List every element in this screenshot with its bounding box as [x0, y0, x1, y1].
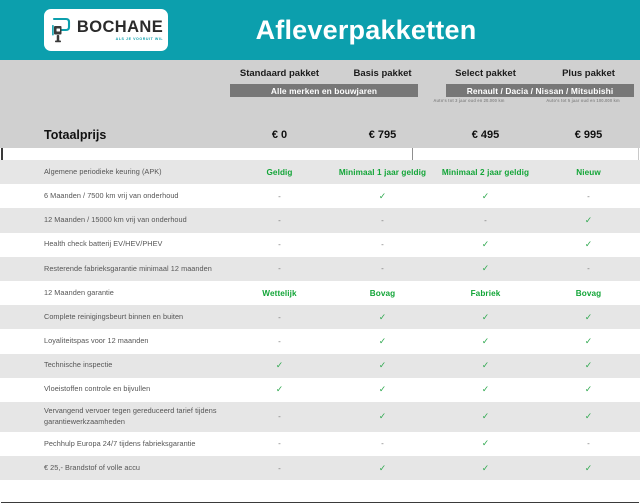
package-subtitle-plus: Auto's tot 5 jaar oud en 100.000 km: [526, 98, 640, 107]
price-standaard: € 0: [228, 122, 331, 148]
value-dash: -: [484, 216, 487, 225]
afleverpakketten-sheet: BOCHANE ALS JE VOORUIT WIL Afleverpakket…: [0, 0, 640, 453]
feature-value-cell: ✓: [434, 378, 537, 402]
total-price-label: Totaalprijs: [0, 122, 228, 148]
group-band-all-brands: Alle merken en bouwjaren: [230, 84, 418, 97]
feature-value-cell: -: [228, 208, 331, 232]
package-subtitles-row: Auto's tot 3 jaar oud en 20.000 km Auto'…: [0, 98, 640, 107]
header-body-gap: [0, 148, 640, 160]
feature-value-cell: ✓: [434, 257, 537, 281]
value-dash: -: [278, 439, 281, 448]
value-tick: ✓: [482, 263, 490, 274]
feature-value-cell: -: [228, 305, 331, 329]
feature-label: € 25,- Brandstof of volle accu: [0, 456, 228, 480]
page-title: Afleverpakketten: [0, 0, 640, 60]
package-name-basis: Basis pakket: [331, 68, 434, 82]
value-dash: -: [381, 240, 384, 249]
feature-value-cell: ✓: [537, 233, 640, 257]
value-word: Nieuw: [576, 168, 601, 177]
value-tick: ✓: [276, 384, 284, 395]
feature-value-cell: -: [331, 208, 434, 232]
table-row: Complete reinigingsbeurt binnen en buite…: [0, 305, 640, 329]
feature-label: 6 Maanden / 7500 km vrij van onderhoud: [0, 184, 228, 208]
band-spacer: [0, 84, 228, 97]
value-dash: -: [587, 192, 590, 201]
feature-value-cell: ✓: [331, 184, 434, 208]
feature-value-cell: ✓: [434, 329, 537, 353]
value-tick: ✓: [585, 463, 593, 474]
value-tick: ✓: [379, 360, 387, 371]
value-tick: ✓: [482, 384, 490, 395]
value-dash: -: [381, 216, 384, 225]
feature-value-cell: ✓: [434, 305, 537, 329]
package-subtitle-select: Auto's tot 3 jaar oud en 20.000 km: [412, 98, 526, 107]
value-tick: ✓: [482, 411, 490, 422]
value-dash: -: [278, 264, 281, 273]
value-dash: -: [278, 216, 281, 225]
value-tick: ✓: [379, 191, 387, 202]
value-dash: -: [278, 192, 281, 201]
price-select: € 495: [434, 122, 537, 148]
feature-value-cell: -: [228, 257, 331, 281]
table-row: Technische inspectie✓✓✓✓: [0, 354, 640, 378]
value-tick: ✓: [482, 191, 490, 202]
group-bands-row: Alle merken en bouwjaren Renault / Dacia…: [0, 84, 640, 97]
feature-value-cell: Bovag: [331, 281, 434, 305]
feature-value-cell: Nieuw: [537, 160, 640, 184]
feature-value-cell: ✓: [434, 432, 537, 456]
feature-value-cell: -: [331, 233, 434, 257]
value-dash: -: [278, 240, 281, 249]
feature-value-cell: ✓: [537, 402, 640, 432]
value-dash: -: [587, 264, 590, 273]
feature-rows-container: Algemene periodieke keuring (APK)GeldigM…: [0, 160, 640, 480]
value-tick: ✓: [482, 336, 490, 347]
feature-value-cell: -: [228, 184, 331, 208]
feature-value-cell: ✓: [537, 456, 640, 480]
value-word: Fabriek: [471, 289, 501, 298]
feature-value-cell: -: [228, 456, 331, 480]
table-row: Health check batterij EV/HEV/PHEV--✓✓: [0, 233, 640, 257]
table-footer-row: [0, 480, 640, 503]
feature-value-cell: Wettelijk: [228, 281, 331, 305]
feature-label: 12 Maanden garantie: [0, 281, 228, 305]
feature-label: Pechhulp Europa 24/7 tijdens fabrieksgar…: [0, 432, 228, 456]
table-row: Vervangend vervoer tegen gereduceerd tar…: [0, 402, 640, 432]
feature-value-cell: -: [331, 257, 434, 281]
value-dash: -: [587, 439, 590, 448]
feature-value-cell: ✓: [537, 208, 640, 232]
value-tick: ✓: [585, 336, 593, 347]
value-tick: ✓: [585, 411, 593, 422]
feature-value-cell: ✓: [434, 402, 537, 432]
feature-label: Complete reinigingsbeurt binnen en buite…: [0, 305, 228, 329]
feature-value-cell: -: [537, 184, 640, 208]
value-tick: ✓: [379, 312, 387, 323]
value-word: Bovag: [576, 289, 602, 298]
subtitle-spacer: [0, 98, 412, 107]
value-tick: ✓: [585, 215, 593, 226]
packages-comparison-table: Standaard pakket Basis pakket Select pak…: [0, 60, 640, 503]
footer-cell-4: [537, 480, 640, 503]
feature-label: Loyaliteitspas voor 12 maanden: [0, 329, 228, 353]
value-tick: ✓: [482, 438, 490, 449]
value-tick: ✓: [379, 336, 387, 347]
table-row: 6 Maanden / 7500 km vrij van onderhoud-✓…: [0, 184, 640, 208]
price-basis: € 795: [331, 122, 434, 148]
feature-value-cell: Bovag: [537, 281, 640, 305]
value-dash: -: [381, 439, 384, 448]
feature-value-cell: Fabriek: [434, 281, 537, 305]
value-tick: ✓: [276, 360, 284, 371]
footer-label-cell: [0, 480, 228, 503]
value-tick: ✓: [482, 463, 490, 474]
value-word: Geldig: [266, 168, 292, 177]
feature-value-cell: -: [537, 257, 640, 281]
value-tick: ✓: [585, 312, 593, 323]
feature-value-cell: ✓: [331, 456, 434, 480]
footer-cell-2: [331, 480, 434, 503]
feature-value-cell: -: [228, 432, 331, 456]
table-row: Loyaliteitspas voor 12 maanden-✓✓✓: [0, 329, 640, 353]
value-tick: ✓: [482, 312, 490, 323]
table-row: Resterende fabrieksgarantie minimaal 12 …: [0, 257, 640, 281]
feature-value-cell: ✓: [434, 233, 537, 257]
price-plus: € 995: [537, 122, 640, 148]
package-name-plus: Plus pakket: [537, 68, 640, 82]
feature-value-cell: ✓: [331, 305, 434, 329]
feature-value-cell: ✓: [228, 354, 331, 378]
feature-value-cell: -: [537, 432, 640, 456]
feature-label: Algemene periodieke keuring (APK): [0, 160, 228, 184]
value-dash: -: [278, 412, 281, 421]
feature-value-cell: -: [331, 432, 434, 456]
value-tick: ✓: [379, 411, 387, 422]
feature-value-cell: ✓: [228, 378, 331, 402]
value-tick: ✓: [482, 239, 490, 250]
feature-label: 12 Maanden / 15000 km vrij van onderhoud: [0, 208, 228, 232]
value-dash: -: [278, 313, 281, 322]
table-row: € 25,- Brandstof of volle accu-✓✓✓: [0, 456, 640, 480]
value-word: Minimaal 2 jaar geldig: [442, 168, 529, 177]
value-word: Bovag: [370, 289, 396, 298]
feature-label: Vervangend vervoer tegen gereduceerd tar…: [0, 402, 228, 432]
value-tick: ✓: [585, 239, 593, 250]
feature-value-cell: ✓: [331, 354, 434, 378]
feature-value-cell: ✓: [331, 402, 434, 432]
feature-label: Vloeistoffen controle en bijvullen: [0, 378, 228, 402]
table-row: Vloeistoffen controle en bijvullen✓✓✓✓: [0, 378, 640, 402]
feature-value-cell: -: [228, 402, 331, 432]
feature-value-cell: ✓: [537, 354, 640, 378]
feature-value-cell: ✓: [537, 378, 640, 402]
page-header: BOCHANE ALS JE VOORUIT WIL Afleverpakket…: [0, 0, 640, 60]
feature-label: Resterende fabrieksgarantie minimaal 12 …: [0, 257, 228, 281]
group-band-renault-group: Renault / Dacia / Nissan / Mitsubishi: [446, 84, 634, 97]
feature-value-cell: Geldig: [228, 160, 331, 184]
package-name-standaard: Standaard pakket: [228, 68, 331, 82]
value-tick: ✓: [379, 463, 387, 474]
value-tick: ✓: [379, 384, 387, 395]
table-row: Pechhulp Europa 24/7 tijdens fabrieksgar…: [0, 432, 640, 456]
value-word: Minimaal 1 jaar geldig: [339, 168, 426, 177]
total-price-row: Totaalprijs € 0 € 795 € 495 € 995: [0, 122, 640, 148]
value-dash: -: [278, 464, 281, 473]
feature-value-cell: -: [228, 233, 331, 257]
feature-value-cell: -: [228, 329, 331, 353]
table-row: 12 Maanden garantieWettelijkBovagFabriek…: [0, 281, 640, 305]
feature-label: Technische inspectie: [0, 354, 228, 378]
feature-value-cell: ✓: [434, 354, 537, 378]
feature-value-cell: ✓: [434, 184, 537, 208]
feature-value-cell: Minimaal 2 jaar geldig: [434, 160, 537, 184]
table-header-block: Standaard pakket Basis pakket Select pak…: [0, 60, 640, 122]
table-row: Algemene periodieke keuring (APK)GeldigM…: [0, 160, 640, 184]
feature-value-cell: ✓: [537, 329, 640, 353]
feature-value-cell: Minimaal 1 jaar geldig: [331, 160, 434, 184]
table-row: 12 Maanden / 15000 km vrij van onderhoud…: [0, 208, 640, 232]
feature-value-cell: ✓: [331, 329, 434, 353]
value-tick: ✓: [585, 384, 593, 395]
value-dash: -: [278, 337, 281, 346]
value-tick: ✓: [585, 360, 593, 371]
package-name-select: Select pakket: [434, 68, 537, 82]
value-tick: ✓: [482, 360, 490, 371]
feature-value-cell: -: [434, 208, 537, 232]
footer-cell-3: [434, 480, 537, 503]
feature-label: Health check batterij EV/HEV/PHEV: [0, 233, 228, 257]
feature-value-cell: ✓: [537, 305, 640, 329]
feature-value-cell: ✓: [434, 456, 537, 480]
header-spacer: [0, 68, 228, 82]
value-dash: -: [381, 264, 384, 273]
footer-cell-1: [228, 480, 331, 503]
value-word: Wettelijk: [262, 289, 296, 298]
feature-value-cell: ✓: [331, 378, 434, 402]
package-names-row: Standaard pakket Basis pakket Select pak…: [0, 68, 640, 82]
